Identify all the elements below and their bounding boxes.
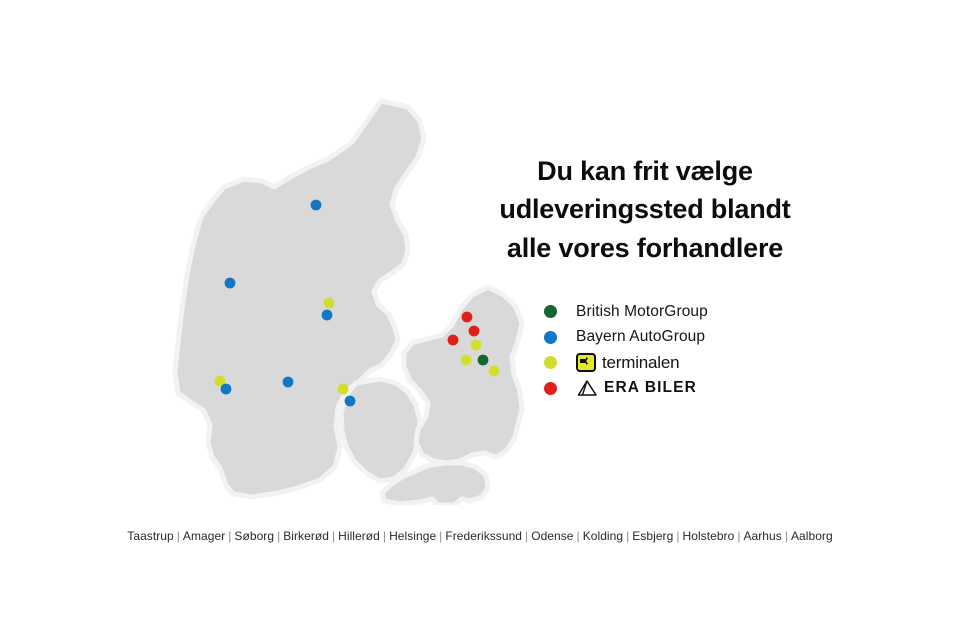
era-triangle-icon <box>576 380 598 397</box>
legend-label-british-motorgroup: British MotorGroup <box>576 303 708 321</box>
city-aalborg: Aalborg <box>789 529 835 543</box>
marker-hillerod[interactable] <box>469 326 480 337</box>
city-helsinge: Helsinge <box>387 529 438 543</box>
marker-kolding[interactable] <box>283 377 294 388</box>
marker-helsinge[interactable] <box>462 312 473 323</box>
city-odense: Odense <box>529 529 575 543</box>
marker-soborg[interactable] <box>478 355 489 366</box>
brand-legend: British MotorGroup Bayern AutoGroup term… <box>544 299 844 401</box>
poster-canvas: Du kan frit vælge udleveringssted blandt… <box>0 0 960 640</box>
city-frederikssund: Frederikssund <box>443 529 524 543</box>
city-separator: | <box>576 529 581 543</box>
city-birker-d: Birkerød <box>281 529 331 543</box>
headline-line-2: udleveringssted blandt <box>460 190 830 228</box>
city-amager: Amager <box>181 529 227 543</box>
marker-odense-terminalen[interactable] <box>338 384 349 395</box>
marker-odense[interactable] <box>345 396 356 407</box>
marker-taastrup[interactable] <box>461 355 472 366</box>
city-taastrup: Taastrup <box>125 529 175 543</box>
legend-label-bayern-autogroup: Bayern AutoGroup <box>576 328 705 346</box>
legend-dot-terminalen <box>544 356 557 369</box>
region-funen <box>341 379 420 481</box>
marker-frederikssund[interactable] <box>448 335 459 346</box>
marker-birkerod[interactable] <box>471 340 482 351</box>
headline-line-1: Du kan frit vælge <box>460 152 830 190</box>
city-esbjerg: Esbjerg <box>630 529 675 543</box>
terminalen-mark-icon <box>576 353 596 372</box>
city-list: Taastrup|Amager|Søborg|Birkerød|Hillerød… <box>0 529 960 543</box>
terminalen-wordmark: terminalen <box>602 353 679 373</box>
city-kolding: Kolding <box>581 529 625 543</box>
legend-dot-bayern-autogroup <box>544 331 557 344</box>
legend-item-bayern-autogroup[interactable]: Bayern AutoGroup <box>544 325 844 351</box>
marker-aalborg[interactable] <box>311 200 322 211</box>
legend-item-british-motorgroup[interactable]: British MotorGroup <box>544 299 844 325</box>
legend-item-terminalen[interactable]: terminalen <box>544 350 844 376</box>
city-s-borg: Søborg <box>232 529 276 543</box>
legend-dot-era-biler <box>544 382 557 395</box>
legend-item-era-biler[interactable]: ERA BILER <box>544 376 844 402</box>
marker-esbjerg[interactable] <box>221 384 232 395</box>
city-hiller-d: Hillerød <box>336 529 382 543</box>
era-biler-wordmark: ERA BILER <box>604 379 697 397</box>
city-separator: | <box>675 529 680 543</box>
headline-line-3: alle vores forhandlere <box>460 229 830 267</box>
marker-aarhus-terminalen[interactable] <box>324 298 335 309</box>
era-biler-logo: ERA BILER <box>576 379 697 397</box>
legend-dot-british-motorgroup <box>544 305 557 318</box>
marker-holstebro[interactable] <box>225 278 236 289</box>
marker-aarhus[interactable] <box>322 310 333 321</box>
marker-amager[interactable] <box>489 366 500 377</box>
city-holstebro: Holstebro <box>681 529 737 543</box>
terminalen-logo: terminalen <box>576 353 679 373</box>
city-aarhus: Aarhus <box>741 529 783 543</box>
page-title: Du kan frit vælge udleveringssted blandt… <box>460 152 830 267</box>
